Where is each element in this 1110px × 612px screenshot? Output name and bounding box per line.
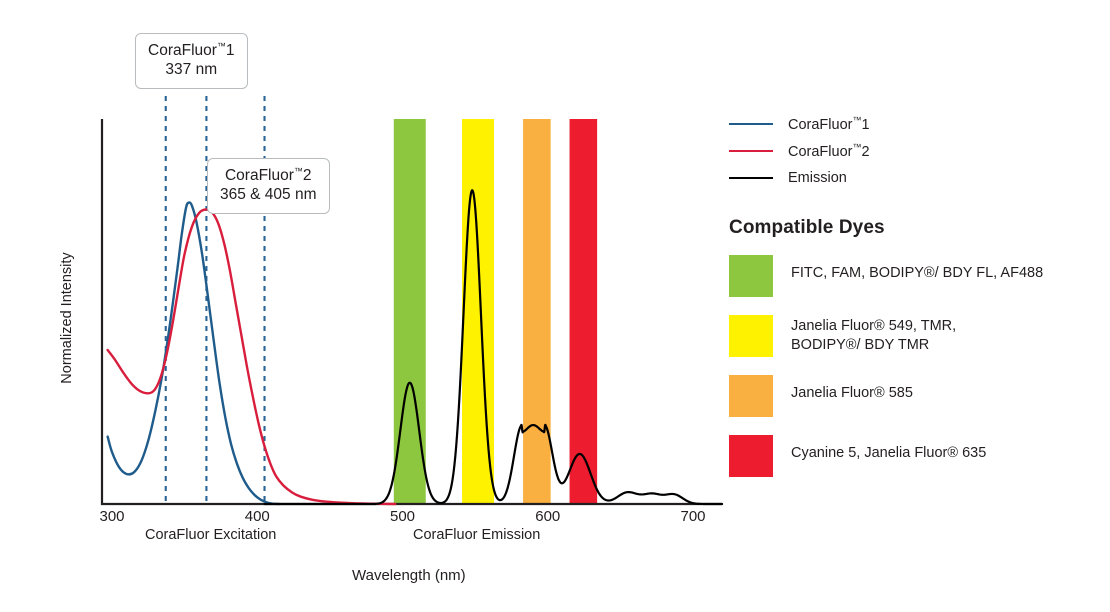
annotation-cf1-name: CoraFluor — [148, 42, 217, 59]
legend-row-corafluor2: CoraFluor™2 — [729, 137, 1099, 164]
legend-row-emission: Emission — [729, 164, 1099, 191]
compatible-dyes-heading: Compatible Dyes — [729, 217, 1099, 239]
dye-label: Cyanine 5, Janelia Fluor® 635 — [791, 435, 986, 463]
annotation-corafluor-2: CoraFluor™2 365 & 405 nm — [207, 158, 330, 214]
legend-line-swatch — [729, 123, 773, 125]
legend-label: Emission — [788, 170, 847, 186]
legend-row-corafluor1: CoraFluor™1 — [729, 110, 1099, 137]
dye-row: Janelia Fluor® 549, TMR, BODIPY®/ BDY TM… — [729, 315, 1099, 357]
dye-label: Janelia Fluor® 549, TMR, BODIPY®/ BDY TM… — [791, 315, 956, 355]
dye-color-swatch — [729, 435, 773, 477]
annotation-cf2-wavelength: 365 & 405 nm — [220, 186, 317, 205]
trademark-icon: ™ — [294, 166, 303, 176]
x-tick-600: 600 — [518, 508, 578, 525]
emission-region-label: CoraFluor Emission — [413, 527, 540, 543]
legend-label-index: 2 — [861, 143, 869, 159]
legend-line-swatch — [729, 150, 773, 152]
trademark-icon: ™ — [217, 41, 226, 51]
x-tick-700: 700 — [663, 508, 723, 525]
dye-label: Janelia Fluor® 585 — [791, 375, 913, 403]
legend-label: CoraFluor™1 — [788, 115, 870, 133]
annotation-corafluor-1: CoraFluor™1 337 nm — [135, 33, 248, 89]
dye-row: FITC, FAM, BODIPY®/ BDY FL, AF488 — [729, 255, 1099, 297]
y-axis-title: Normalized Intensity — [59, 218, 75, 418]
red-band — [570, 119, 598, 504]
dye-color-swatch — [729, 375, 773, 417]
annotation-cf2-name: CoraFluor — [225, 167, 294, 184]
legend-label: CoraFluor™2 — [788, 142, 870, 160]
legend-label-text: Emission — [788, 170, 847, 186]
excitation-region-label: CoraFluor Excitation — [145, 527, 276, 543]
series-line-corafluor-1-excitation — [108, 202, 279, 504]
x-tick-500: 500 — [373, 508, 433, 525]
dye-color-swatch — [729, 315, 773, 357]
legend-line-swatch — [729, 177, 773, 179]
series-legend: CoraFluor™1CoraFluor™2Emission — [729, 110, 1099, 191]
legend-label-text: CoraFluor — [788, 143, 852, 159]
x-axis-title: Wavelength (nm) — [352, 567, 466, 584]
annotation-cf1-wavelength: 337 nm — [148, 61, 235, 80]
x-tick-300: 300 — [82, 508, 142, 525]
legend-label-index: 1 — [861, 116, 869, 132]
x-tick-400: 400 — [227, 508, 287, 525]
fluorescence-spectra-figure: CoraFluor™1 337 nm CoraFluor™2 365 & 405… — [0, 0, 1110, 612]
dye-row: Cyanine 5, Janelia Fluor® 635 — [729, 435, 1099, 477]
orange-band — [523, 119, 551, 504]
legend-panel: CoraFluor™1CoraFluor™2Emission Compatibl… — [729, 110, 1099, 495]
annotation-cf1-index: 1 — [226, 42, 235, 59]
dye-row: Janelia Fluor® 585 — [729, 375, 1099, 417]
compatible-dyes-list: FITC, FAM, BODIPY®/ BDY FL, AF488Janelia… — [729, 255, 1099, 477]
dye-label: FITC, FAM, BODIPY®/ BDY FL, AF488 — [791, 255, 1043, 283]
series-line-corafluor-2-excitation — [108, 209, 396, 504]
annotation-cf2-index: 2 — [303, 167, 312, 184]
legend-label-text: CoraFluor — [788, 116, 852, 132]
dye-color-swatch — [729, 255, 773, 297]
